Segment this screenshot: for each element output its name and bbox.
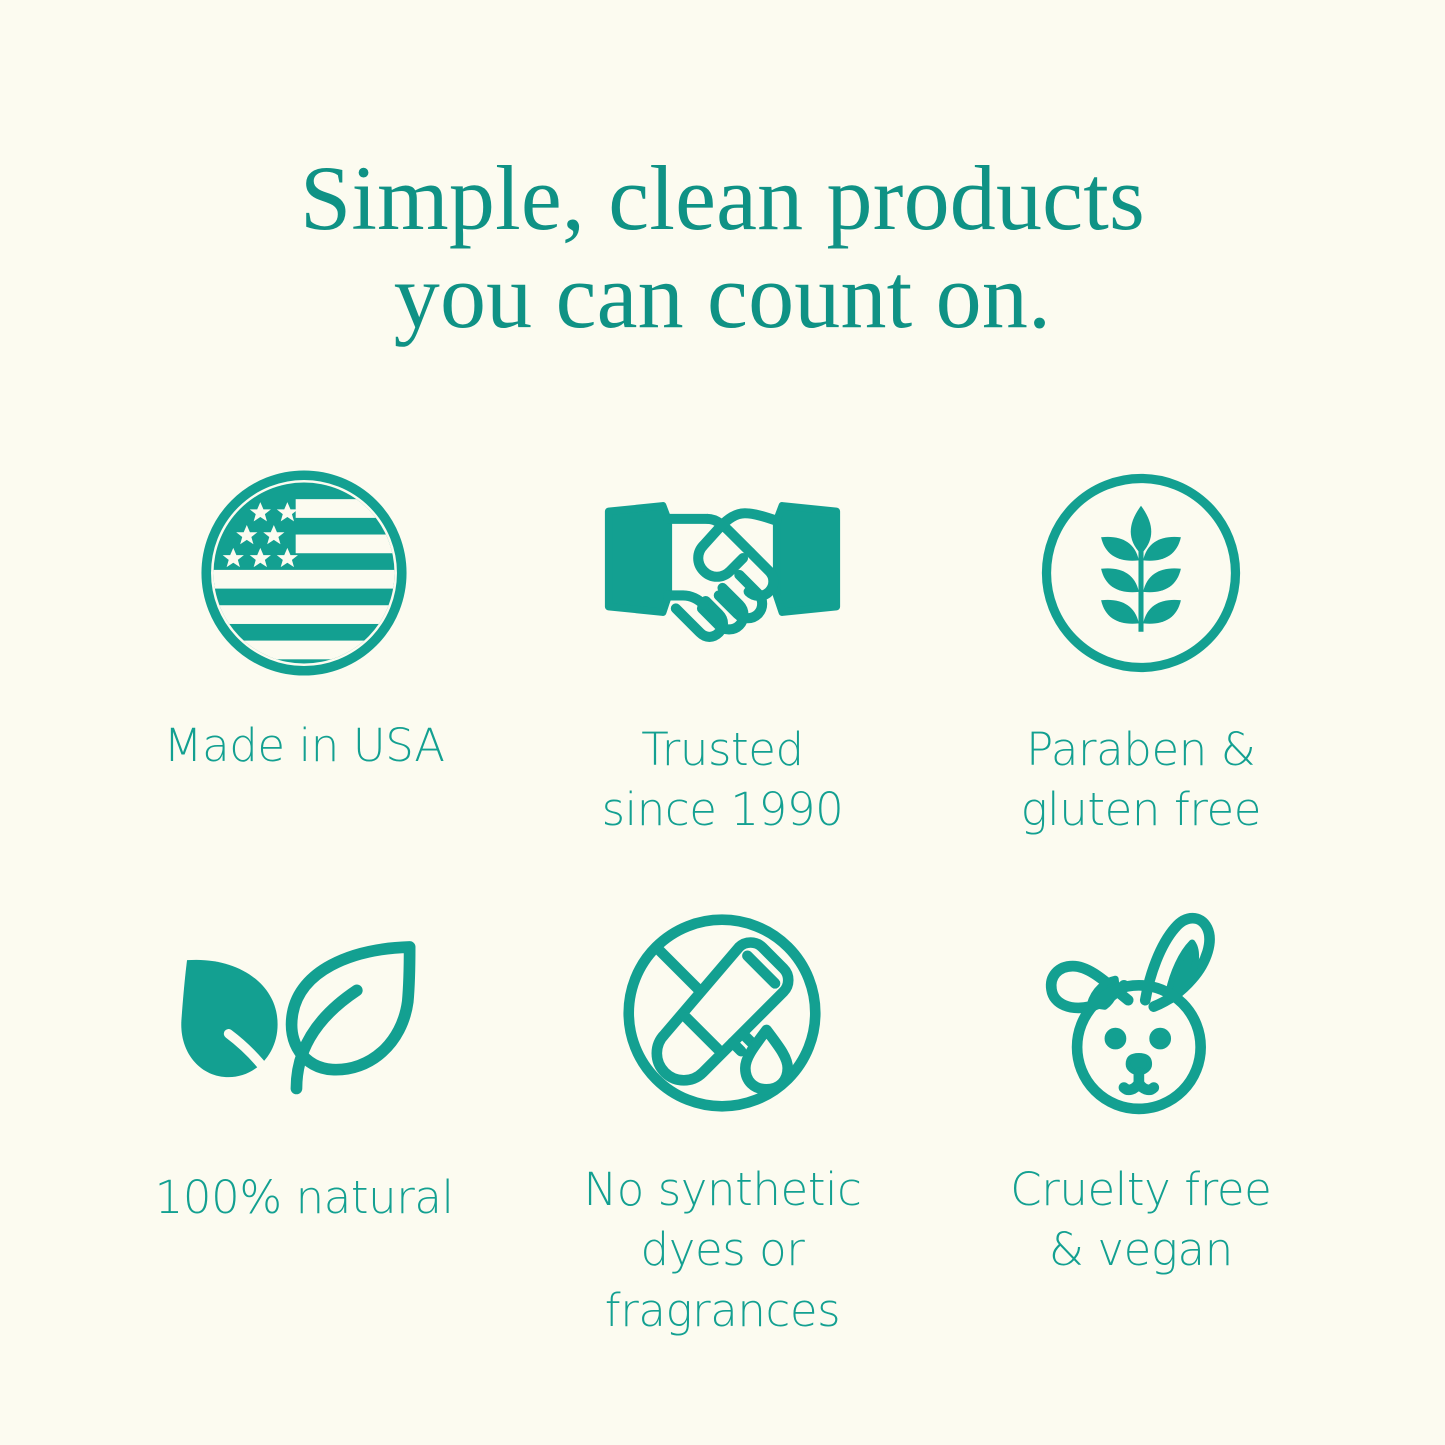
badge-100-percent-natural: 100% natural: [95, 905, 513, 1345]
badge-label-line: fragrances: [583, 1281, 861, 1341]
badge-label: Trusted since 1990: [602, 720, 844, 841]
badge-label: Cruelty free & vegan: [1010, 1160, 1271, 1281]
badge-label-line: Cruelty free: [1010, 1160, 1271, 1220]
badge-label-line: & vegan: [1010, 1220, 1271, 1280]
page-title-line-2: you can count on.: [0, 248, 1445, 346]
badge-made-in-usa: Made in USA: [95, 465, 513, 905]
badge-paraben-gluten-free: Paraben & gluten free: [932, 465, 1350, 905]
badge-label-line: Paraben &: [1021, 720, 1262, 780]
no-test-tube-droplet-icon: [616, 905, 828, 1120]
rabbit-head-icon: [1043, 905, 1239, 1120]
badge-label: No synthetic dyes or fragrances: [583, 1160, 861, 1341]
badge-label-line: 100% natural: [155, 1168, 454, 1228]
page-title-line-1: Simple, clean products: [0, 150, 1445, 248]
badge-trusted-since: Trusted since 1990: [513, 465, 931, 905]
handshake-icon: [600, 465, 845, 680]
badge-label-line: dyes or: [583, 1220, 861, 1280]
usa-flag-circle-icon: [200, 465, 408, 680]
badge-no-synthetic-dyes: No synthetic dyes or fragrances: [513, 905, 931, 1345]
badge-label-line: Trusted: [602, 720, 844, 780]
badge-label-line: gluten free: [1021, 780, 1262, 840]
page-title: Simple, clean products you can count on.: [0, 150, 1445, 345]
two-leaves-icon: [170, 905, 438, 1120]
wheat-stalk-circle-icon: [1036, 465, 1246, 680]
badge-label: Paraben & gluten free: [1021, 720, 1262, 841]
badge-label: 100% natural: [155, 1168, 454, 1228]
badge-label-line: Made in USA: [164, 716, 445, 776]
promo-poster: Simple, clean products you can count on.: [0, 0, 1445, 1445]
badge-label-line: No synthetic: [583, 1160, 861, 1220]
badge-cruelty-free-vegan: Cruelty free & vegan: [932, 905, 1350, 1345]
badge-grid: Made in USA: [95, 465, 1350, 1345]
badge-label: Made in USA: [164, 716, 445, 776]
badge-label-line: since 1990: [602, 780, 844, 840]
